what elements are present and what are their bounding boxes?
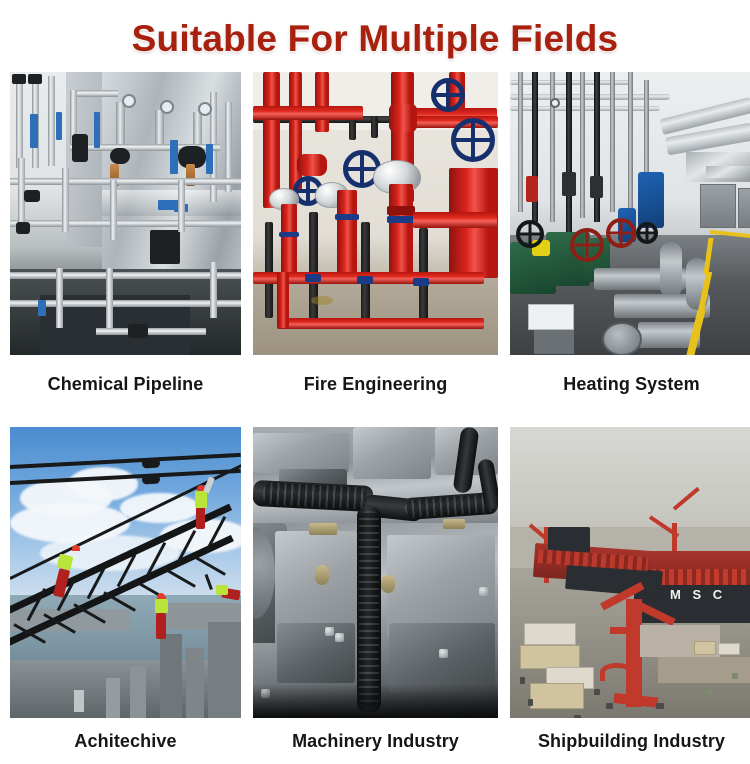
photo-fire-engineering: [253, 72, 498, 355]
photo-heating-system: [510, 72, 750, 355]
gallery-item-heating-system[interactable]: Heating System: [510, 72, 750, 413]
caption-shipbuilding-industry: Shipbuilding Industry: [510, 718, 750, 764]
caption-achitechive: Achitechive: [10, 718, 241, 764]
infographic-page: Suitable For Multiple Fields: [0, 0, 750, 750]
gallery-item-chemical-pipeline[interactable]: Chemical Pipeline: [10, 72, 241, 413]
photo-chemical-pipeline: [10, 72, 241, 355]
gallery-item-achitechive[interactable]: Achitechive: [10, 427, 241, 764]
gallery-item-fire-engineering[interactable]: Fire Engineering: [253, 72, 498, 413]
caption-machinery-industry: Machinery Industry: [253, 718, 498, 764]
caption-chemical-pipeline: Chemical Pipeline: [10, 355, 241, 413]
gallery-item-shipbuilding-industry[interactable]: M S C: [510, 427, 750, 764]
photo-achitechive: [10, 427, 241, 718]
ship-hull-lettering: M S C: [670, 587, 726, 602]
application-gallery-grid: Chemical Pipeline: [10, 72, 743, 764]
photo-shipbuilding-industry: M S C: [510, 427, 750, 718]
caption-fire-engineering: Fire Engineering: [253, 355, 498, 413]
caption-heating-system: Heating System: [510, 355, 750, 413]
gallery-item-machinery-industry[interactable]: Machinery Industry: [253, 427, 498, 764]
page-title-container: Suitable For Multiple Fields: [0, 18, 750, 60]
page-title: Suitable For Multiple Fields: [132, 18, 619, 60]
photo-machinery-industry: [253, 427, 498, 718]
